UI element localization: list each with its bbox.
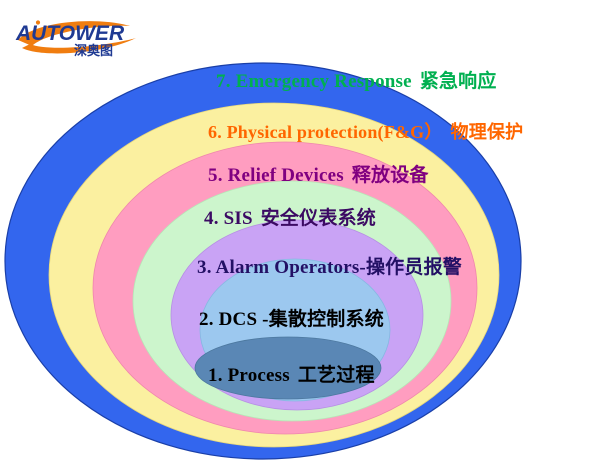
layer-label-6-zh: 物理保护 <box>451 122 524 143</box>
onion-diagram <box>0 0 600 464</box>
layer-label-5-zh: 释放设备 <box>352 164 429 186</box>
layer-label-5: 5. Relief Devices释放设备 <box>208 166 429 185</box>
layer-label-5-en: 5. Relief Devices <box>208 165 344 186</box>
layer-label-4-en: 4. SIS <box>204 208 253 229</box>
layer-label-4-zh: 安全仪表系统 <box>261 207 376 229</box>
layer-label-2-en: 2. DCS - <box>199 309 269 330</box>
layer-label-2: 2. DCS -集散控制系统 <box>199 310 384 329</box>
layer-label-3: 3. Alarm Operators-操作员报警 <box>197 258 462 277</box>
layer-label-1-zh: 工艺过程 <box>298 364 375 386</box>
layer-label-6-en: 6. Physical protection(F&G） <box>208 122 443 142</box>
layer-label-7-zh: 紧急响应 <box>420 70 497 92</box>
layer-label-3-zh: 操作员报警 <box>366 256 462 278</box>
layer-label-7-en: 7. Emergency Response <box>216 71 412 92</box>
layer-label-1: 1. Process工艺过程 <box>208 366 375 385</box>
layer-label-4: 4. SIS安全仪表系统 <box>204 209 376 228</box>
layer-label-6: 6. Physical protection(F&G）物理保护 <box>208 123 523 142</box>
slide-canvas: AUTOWER 深奥图 7. Emergency Response紧急响应 6.… <box>0 0 600 464</box>
layer-label-1-en: 1. Process <box>208 365 290 386</box>
layer-label-7: 7. Emergency Response紧急响应 <box>216 72 497 91</box>
layer-label-2-zh: 集散控制系统 <box>269 308 384 330</box>
layer-label-3-en: 3. Alarm Operators- <box>197 257 366 278</box>
